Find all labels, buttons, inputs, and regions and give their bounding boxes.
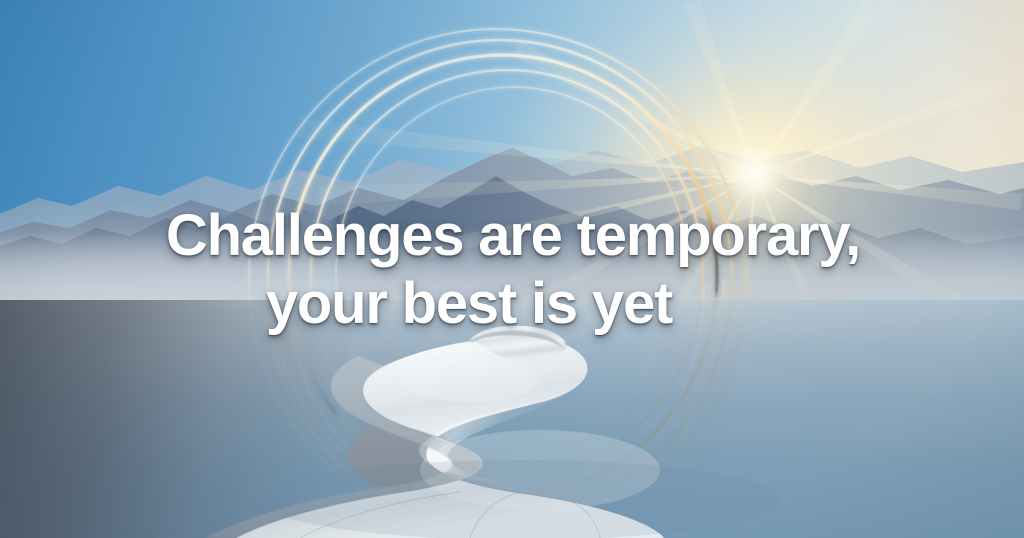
quote-text-block: Challenges are temporary, your best is y…	[0, 202, 1024, 338]
quote-banner-scene: Challenges are temporary, your best is y…	[0, 0, 1024, 538]
quote-line-1: Challenges are temporary,	[2, 202, 1024, 270]
quote-line-2: your best is yet	[0, 270, 1024, 338]
